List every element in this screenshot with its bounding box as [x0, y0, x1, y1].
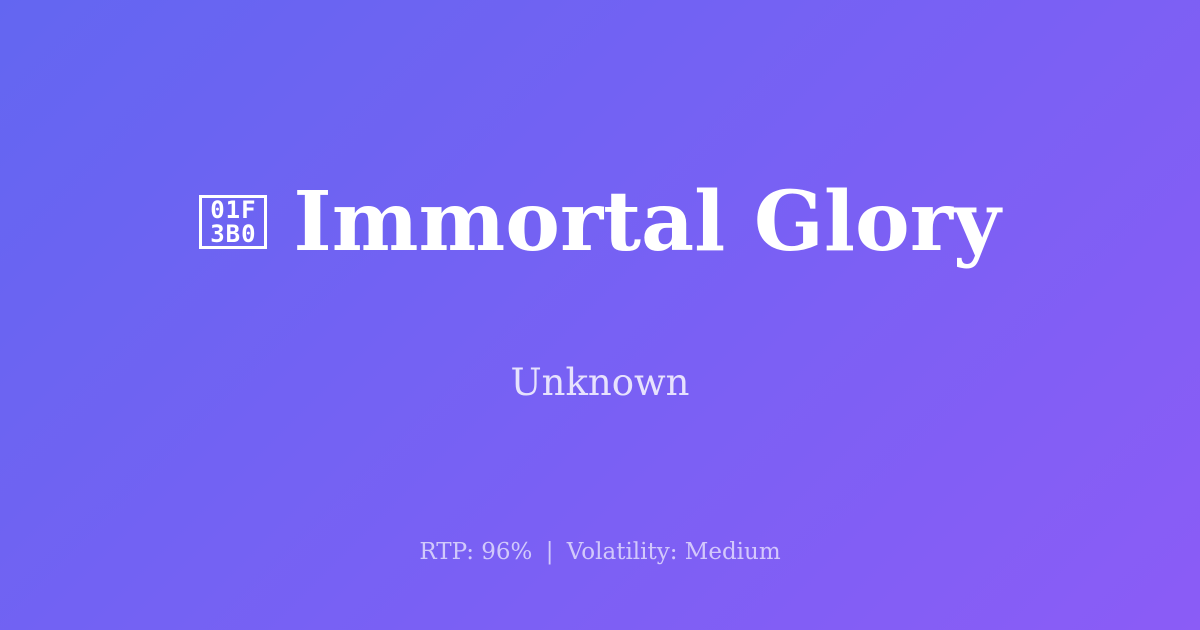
- volatility-label: Volatility: Medium: [567, 539, 781, 565]
- rtp-label: RTP: 96%: [419, 539, 532, 565]
- meta-separator: |: [540, 539, 560, 565]
- slot-machine-emoji-icon-hex-bottom: 3B0: [210, 222, 256, 246]
- game-og-card: 01F 3B0 Immortal Glory Unknown RTP: 96% …: [0, 0, 1200, 630]
- title-line: 01F 3B0 Immortal Glory: [199, 181, 1000, 263]
- title-block: 01F 3B0 Immortal Glory: [0, 0, 1200, 548]
- page-title: Immortal Glory: [293, 181, 1000, 263]
- slot-machine-emoji-icon-hex-top: 01F: [210, 198, 256, 222]
- game-provider-subtitle: Unknown: [0, 364, 1200, 401]
- game-meta-line: RTP: 96% | Volatility: Medium: [0, 541, 1200, 564]
- slot-machine-emoji-icon: 01F 3B0: [199, 195, 267, 249]
